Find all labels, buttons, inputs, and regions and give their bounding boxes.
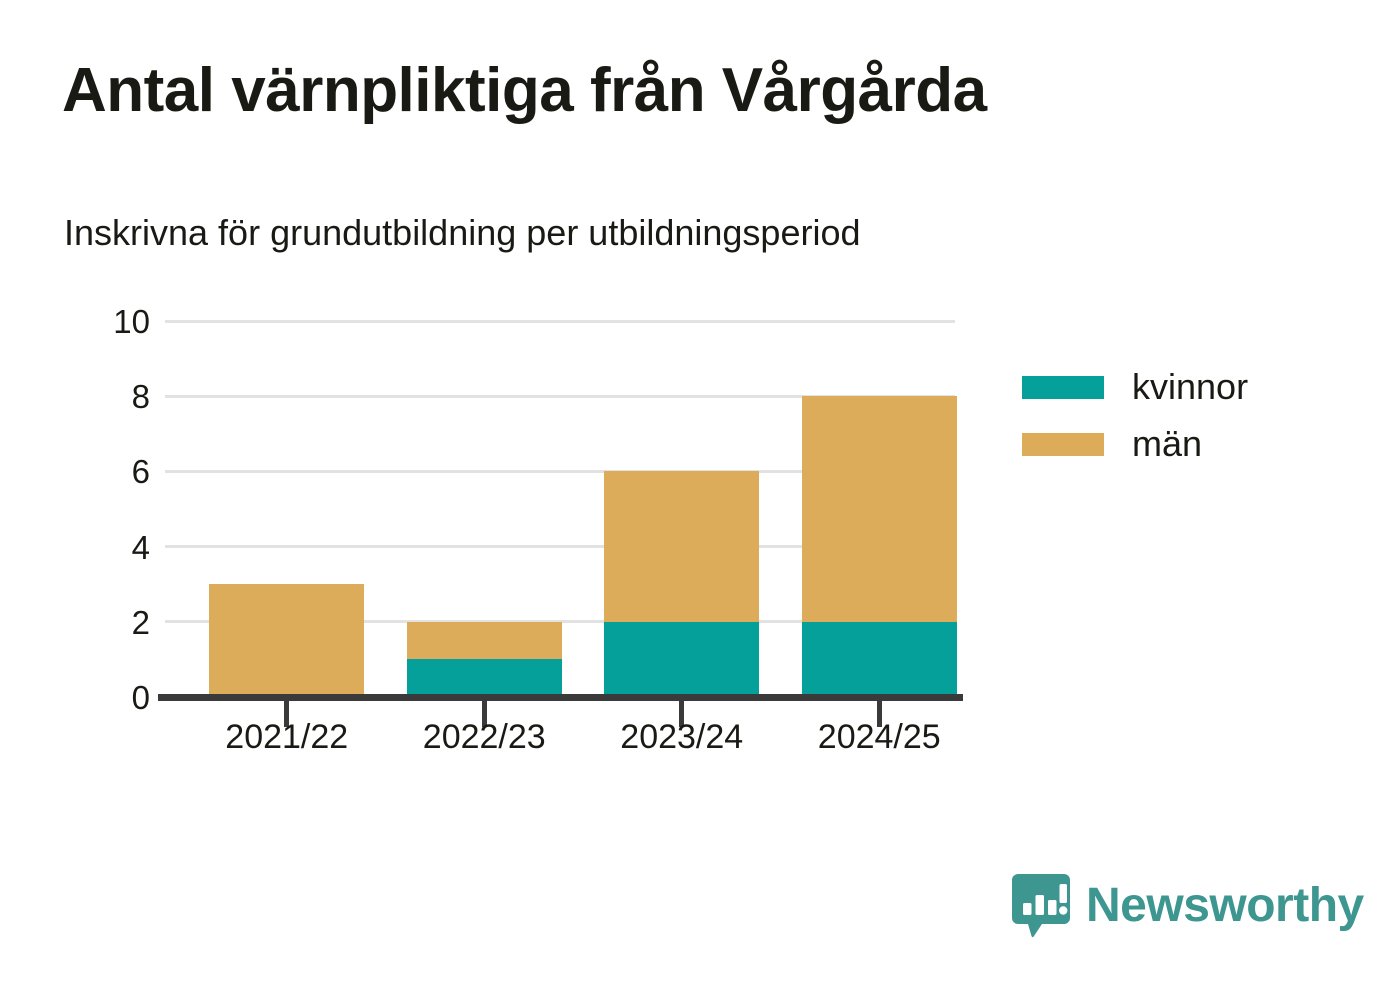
legend-label-kvinnor: kvinnor xyxy=(1132,369,1248,405)
bar-segment-män[interactable] xyxy=(604,471,759,621)
y-axis-tick-label: 10 xyxy=(80,305,150,338)
y-axis-tick-label: 8 xyxy=(80,380,150,413)
newsworthy-logo[interactable]: Newsworthy xyxy=(1012,874,1364,938)
y-axis-tick-label: 0 xyxy=(80,681,150,714)
chart-subtitle: Inskrivna för grundutbildning per utbild… xyxy=(64,212,1264,253)
legend: kvinnor män xyxy=(1022,362,1248,476)
bar-segment-män[interactable] xyxy=(802,396,957,622)
y-axis-tick-label: 4 xyxy=(80,531,150,564)
x-axis-tick-label: 2024/25 xyxy=(759,718,999,757)
legend-swatch-man xyxy=(1022,433,1104,456)
y-axis-tick-label: 2 xyxy=(80,606,150,639)
bar-group-2021-22[interactable] xyxy=(209,321,364,697)
chart-title: Antal värnpliktiga från Vårgårda xyxy=(62,58,1262,123)
bar-segment-män[interactable] xyxy=(407,622,562,660)
y-axis-tick-label: 6 xyxy=(80,455,150,488)
bar-group-2023-24[interactable] xyxy=(604,321,759,697)
bar-group-2022-23[interactable] xyxy=(407,321,562,697)
legend-item-kvinnor[interactable]: kvinnor xyxy=(1022,362,1248,412)
bar-segment-kvinnor[interactable] xyxy=(604,622,759,697)
legend-swatch-kvinnor xyxy=(1022,376,1104,399)
bar-group-2024-25[interactable] xyxy=(802,321,957,697)
bar-chart-speech-bubble-icon xyxy=(1012,874,1070,938)
bar-segment-kvinnor[interactable] xyxy=(407,659,562,697)
bar-segment-män[interactable] xyxy=(209,584,364,697)
y-axis: 0246810 xyxy=(78,321,150,697)
legend-label-man: män xyxy=(1132,426,1202,462)
plot-area xyxy=(165,321,955,697)
legend-item-man[interactable]: män xyxy=(1022,419,1248,469)
bar-segment-kvinnor[interactable] xyxy=(802,622,957,697)
newsworthy-wordmark: Newsworthy xyxy=(1086,882,1364,930)
x-axis-baseline xyxy=(158,694,963,701)
